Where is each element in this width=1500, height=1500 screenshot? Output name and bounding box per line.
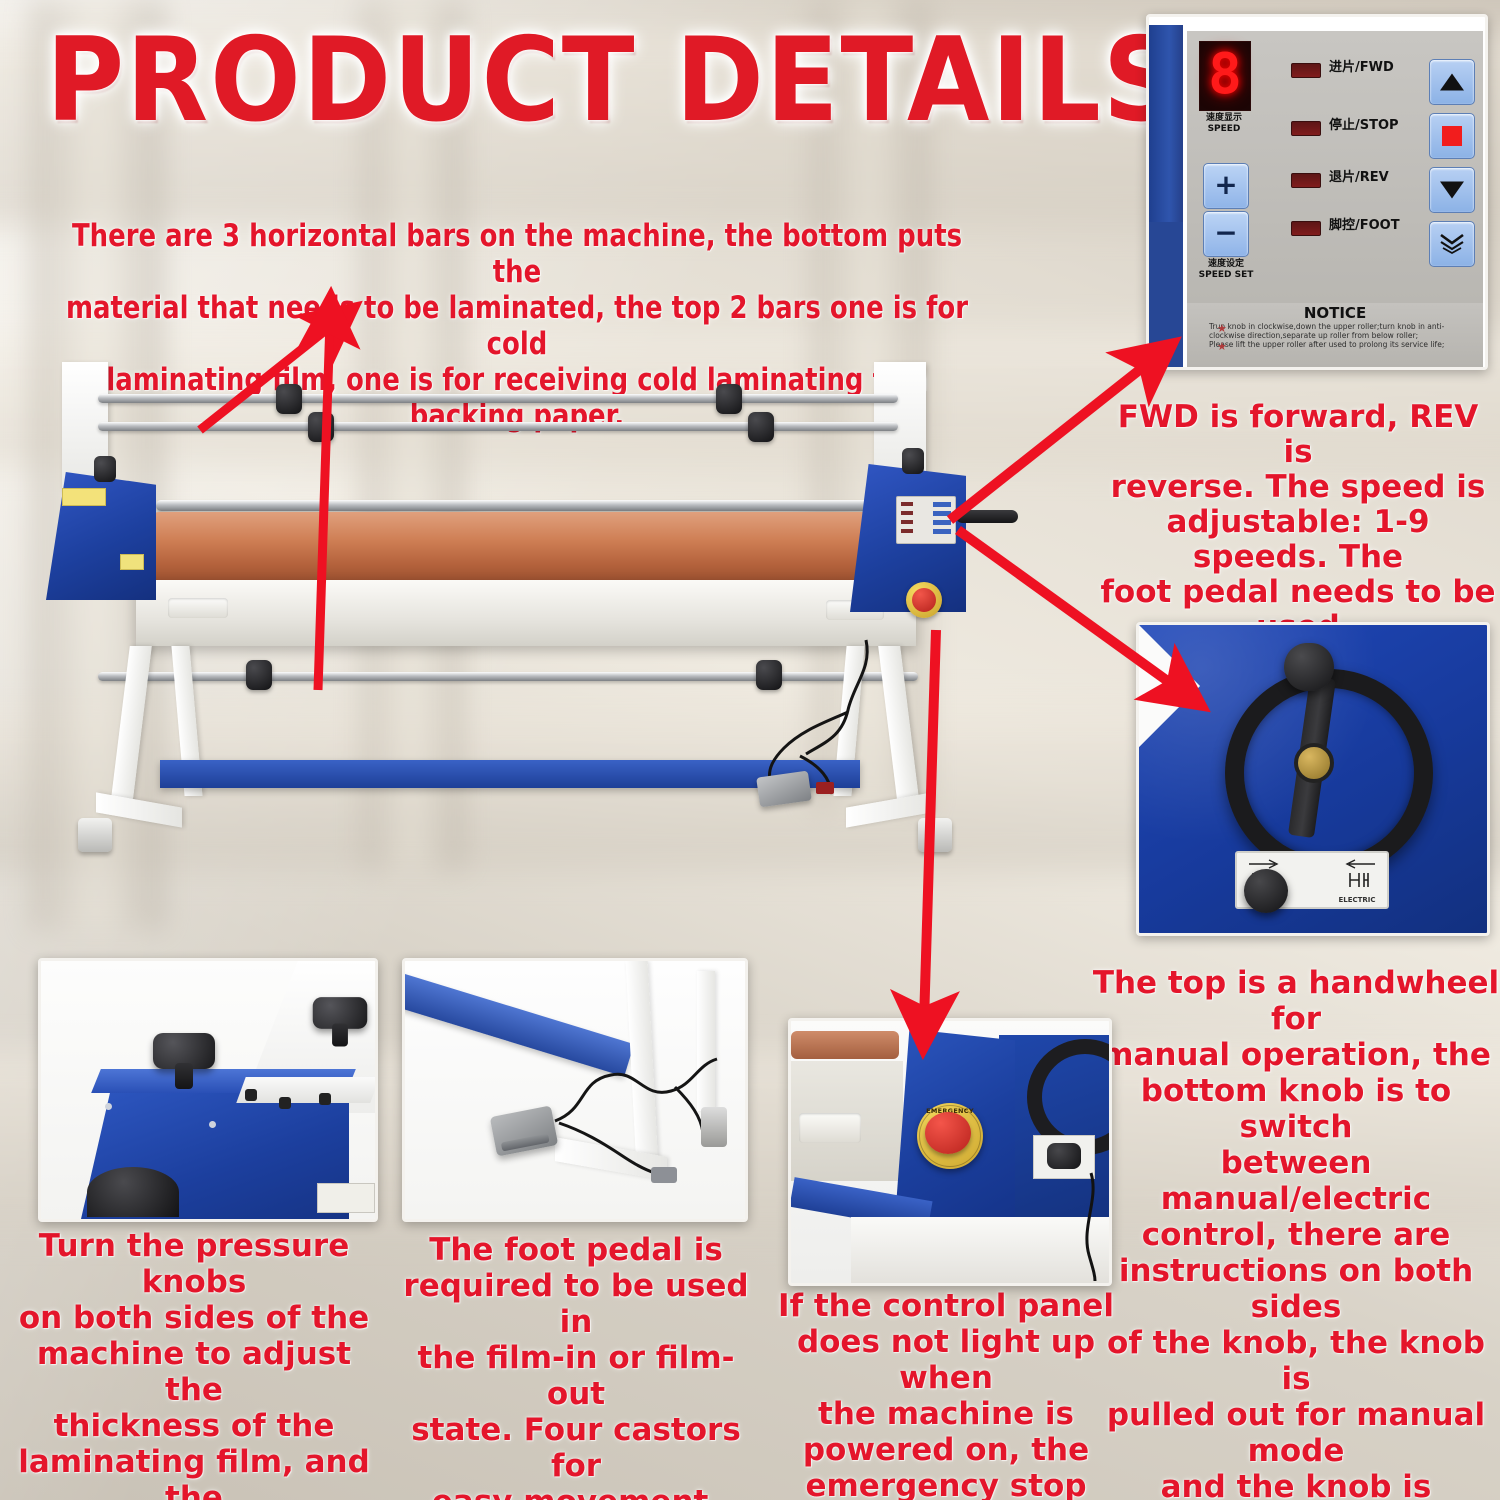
caster-left (78, 818, 112, 852)
indicator-lamp-fwd (1291, 63, 1321, 78)
stop-square-button[interactable] (1429, 113, 1475, 159)
triangle-down-icon (1440, 182, 1464, 199)
notice-line-text: Please lift the upper roller after used … (1209, 340, 1444, 349)
emergency-stop-photo: EMERGENCY (788, 1018, 1112, 1286)
speed-label-cn: 速度显示 (1191, 113, 1257, 123)
bolt-nub (319, 1093, 331, 1105)
warning-label-plate (317, 1183, 375, 1213)
indicator-label-foot: 脚控/FOOT (1329, 219, 1400, 233)
bar-wing-knob (716, 384, 742, 414)
screw-head (209, 1121, 216, 1128)
machine-control-panel[interactable] (896, 496, 956, 544)
control-panel-face: 8 速度显示 SPEED 进片/FWD 停止/STOP 退片/REV 脚控/FO… (1185, 29, 1485, 305)
bar-wing-knob (276, 384, 302, 414)
screw-head (105, 1103, 112, 1110)
chevron-stack-button[interactable] (1429, 221, 1475, 267)
square-stop-icon (1442, 126, 1462, 146)
indicator-lamp-stop (1291, 121, 1321, 136)
speed-set-label-cn: 速度设定 (1189, 259, 1263, 269)
rubber-roller-end (791, 1031, 899, 1059)
pressure-knob-main (153, 1033, 215, 1069)
bolt-nub (279, 1097, 291, 1109)
left-caution-label (120, 554, 144, 570)
notice-title: NOTICE (1187, 303, 1483, 322)
black-wheel (87, 1167, 179, 1217)
stand-leg-left (110, 646, 152, 806)
control-panel-photo: 8 速度显示 SPEED 进片/FWD 停止/STOP 退片/REV 脚控/FO… (1146, 14, 1488, 370)
annotation-emergency: If the control panel does not light up w… (778, 1288, 1114, 1500)
power-cable (1065, 1171, 1111, 1283)
white-shelf (236, 1077, 378, 1103)
arrow-left-icon (1341, 859, 1377, 869)
right-pressure-knob (902, 448, 924, 474)
roller-pair-closed-icon (1345, 871, 1375, 889)
speed-decrease-button[interactable]: − (1203, 211, 1249, 257)
indicator-label-fwd: 进片/FWD (1329, 61, 1394, 75)
star-icon: ★ (1217, 323, 1227, 334)
handwheel-hub (1294, 743, 1334, 783)
laminator-machine-photo (40, 360, 1000, 960)
speed-label-en: SPEED (1191, 124, 1257, 134)
speed-digit: 8 (1200, 46, 1250, 104)
feed-bar-wing-knob (246, 660, 272, 690)
up-arrow-button[interactable] (1429, 59, 1475, 105)
caster (701, 1107, 727, 1147)
foot-pedal-photo (402, 958, 748, 1222)
panel-speckle-texture (1149, 222, 1183, 367)
chevron-stack-icon (1439, 232, 1465, 256)
roller-shaft (156, 500, 896, 511)
notice-plate: NOTICE ★ Trun knob in clockwise,down the… (1185, 303, 1485, 369)
notice-line: ★ Trun knob in clockwise,down the upper … (1209, 323, 1461, 340)
pressure-knob-photo (38, 958, 378, 1222)
film-bar-middle (98, 422, 898, 431)
rubber-roller (148, 512, 904, 582)
indicator-lamp-foot (1291, 221, 1321, 236)
arrow-right-icon (1247, 859, 1283, 869)
speed-set-label-en: SPEED SET (1189, 270, 1263, 280)
caster-right (918, 818, 952, 852)
triangle-up-icon (1440, 74, 1464, 91)
mode-label-electric: ELECTRIC (1329, 896, 1385, 904)
indicator-lamp-rev (1291, 173, 1321, 188)
bar-wing-knob (308, 412, 334, 442)
notice-line-text: Trun knob in clockwise,down the upper ro… (1209, 322, 1444, 340)
mode-selector-knob (1244, 869, 1288, 913)
page-title: PRODUCT DETAILS (46, 22, 1040, 140)
body-handle-slot (799, 1113, 861, 1143)
annotation-foot-pedal: The foot pedal is required to be used in… (400, 1232, 752, 1500)
mode-knob-partial (1047, 1143, 1081, 1169)
left-warning-label (62, 488, 106, 506)
machine-emergency-stop[interactable] (906, 582, 942, 618)
speed-display: 8 (1199, 41, 1251, 111)
power-plug (651, 1167, 677, 1183)
handwheel-grip-knob (1284, 643, 1334, 691)
pressure-knob-secondary (313, 997, 368, 1029)
machine-lever[interactable] (956, 510, 1018, 523)
annotation-handwheel: The top is a handwheel for manual operat… (1090, 965, 1500, 1500)
down-arrow-button[interactable] (1429, 167, 1475, 213)
cable-connector (816, 782, 834, 794)
notice-line: ★ Please lift the upper roller after use… (1209, 341, 1461, 350)
emergency-ring (919, 1105, 981, 1167)
indicator-label-rev: 退片/REV (1329, 171, 1389, 185)
indicator-label-stop: 停止/STOP (1329, 119, 1399, 133)
infographic-canvas: PRODUCT DETAILS There are 3 horizontal b… (0, 0, 1500, 1500)
machine-body (136, 580, 916, 646)
bolt-nub (245, 1089, 257, 1101)
body-handle-slot-left (168, 598, 228, 618)
annotation-pressure-knobs: Turn the pressure knobs on both sides of… (8, 1228, 380, 1500)
bar-wing-knob (748, 412, 774, 442)
left-pressure-knob (94, 456, 116, 482)
handwheel-photo: HAND ELECTRIC (1136, 622, 1490, 936)
star-icon: ★ (1217, 341, 1227, 352)
emergency-stop-button[interactable]: EMERGENCY (917, 1103, 983, 1169)
speed-increase-button[interactable]: + (1203, 163, 1249, 209)
film-bar-upper (98, 394, 898, 403)
